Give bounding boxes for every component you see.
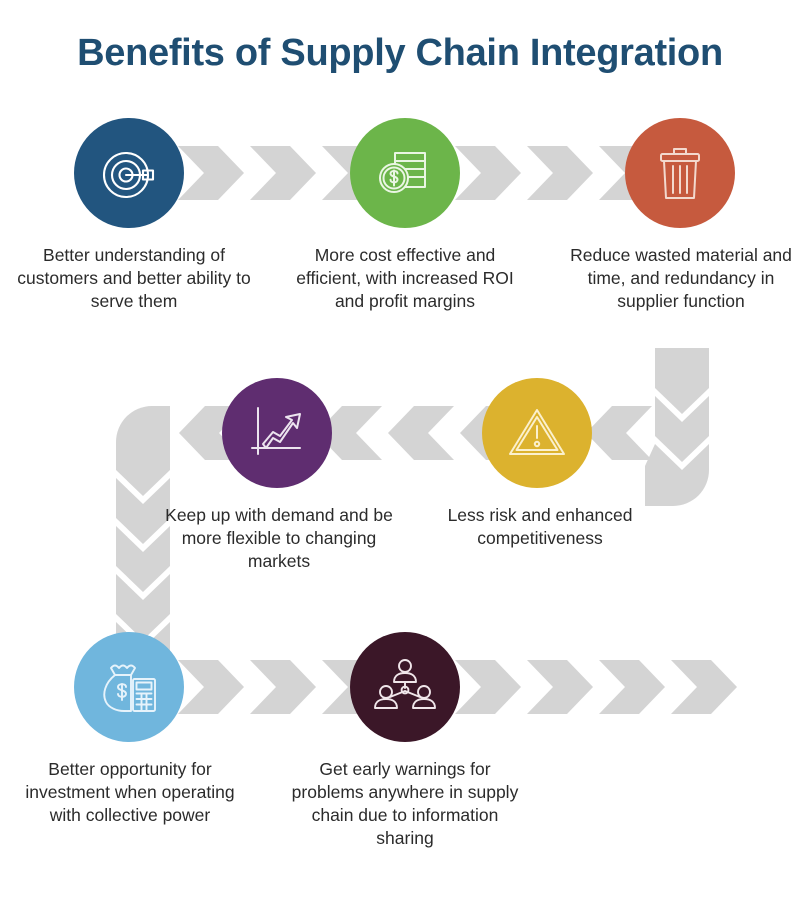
benefit-node-7[interactable] — [350, 632, 460, 742]
benefit-circle-6 — [74, 632, 184, 742]
benefit-caption-3: Reduce wasted material and time, and red… — [566, 244, 796, 313]
benefit-caption-5: Less risk and enhanced competitiveness — [432, 504, 648, 550]
benefit-caption-2: More cost effective and efficient, with … — [292, 244, 518, 313]
benefit-node-2[interactable] — [350, 118, 460, 228]
target-arrow-icon — [96, 140, 162, 206]
people-network-icon — [373, 657, 437, 717]
chevron-group-row3-b — [455, 660, 737, 714]
benefit-node-5[interactable] — [482, 378, 592, 488]
benefit-node-3[interactable] — [625, 118, 735, 228]
benefit-caption-6: Better opportunity for investment when o… — [10, 758, 250, 827]
benefit-caption-4: Keep up with demand and be more flexible… — [158, 504, 400, 573]
benefit-circle-5 — [482, 378, 592, 488]
infographic-canvas: Benefits of Supply Chain Integration — [0, 0, 800, 897]
benefit-circle-3 — [625, 118, 735, 228]
warning-triangle-icon — [506, 404, 568, 462]
benefit-node-1[interactable] — [74, 118, 184, 228]
benefit-caption-1: Better understanding of customers and be… — [14, 244, 254, 313]
money-bag-calculator-icon — [97, 656, 161, 718]
benefit-circle-2 — [350, 118, 460, 228]
benefit-node-4[interactable] — [222, 378, 332, 488]
chevron-elbow-right — [640, 348, 709, 506]
benefit-circle-4 — [222, 378, 332, 488]
trash-bin-icon — [651, 142, 709, 204]
growth-chart-arrow-icon — [246, 402, 308, 464]
benefit-circle-7 — [350, 632, 460, 742]
benefit-circle-1 — [74, 118, 184, 228]
benefit-caption-7: Get early warnings for problems anywhere… — [290, 758, 520, 850]
benefit-node-6[interactable] — [74, 632, 184, 742]
coins-dollar-icon — [374, 142, 436, 204]
